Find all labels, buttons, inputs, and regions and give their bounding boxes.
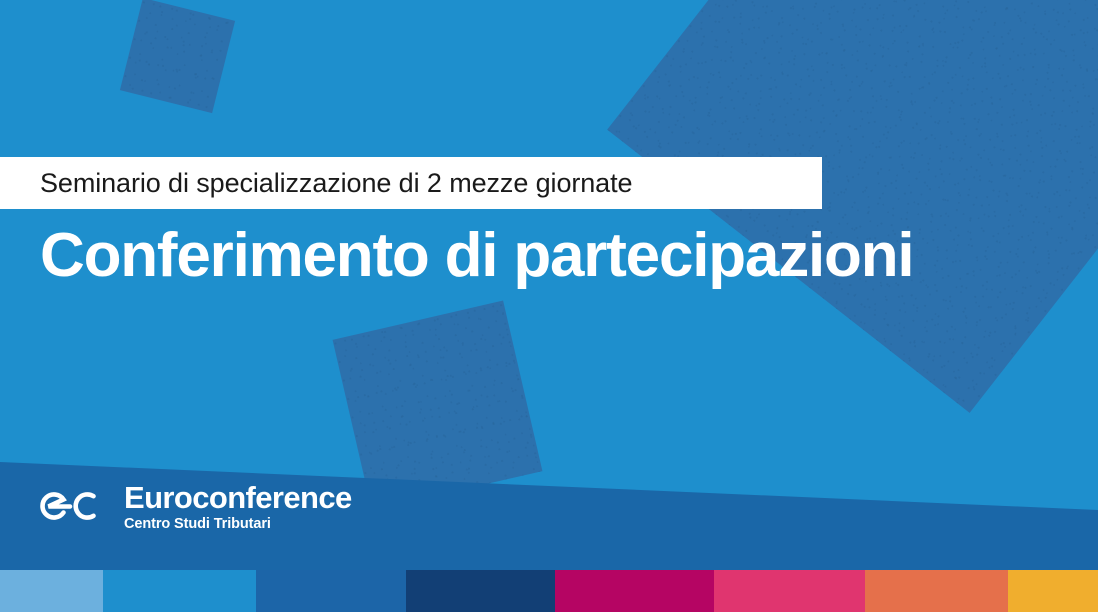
brand-color-strip bbox=[0, 570, 1098, 612]
color-swatch-gold bbox=[1008, 570, 1098, 612]
color-swatch-bright-blue bbox=[103, 570, 256, 612]
ec-monogram-icon bbox=[40, 484, 112, 533]
color-swatch-light-blue bbox=[0, 570, 103, 612]
color-swatch-orange bbox=[865, 570, 1008, 612]
euroconference-logo[interactable]: Euroconference Centro Studi Tributari bbox=[40, 482, 352, 533]
color-swatch-pink bbox=[714, 570, 865, 612]
logo-wordmark: Euroconference Centro Studi Tributari bbox=[124, 482, 352, 532]
color-swatch-steel-blue bbox=[256, 570, 406, 612]
kicker-label-box: Seminario di specializzazione di 2 mezze… bbox=[0, 157, 822, 209]
kicker-text: Seminario di specializzazione di 2 mezze… bbox=[40, 168, 632, 199]
logo-tagline: Centro Studi Tributari bbox=[124, 517, 352, 532]
page-title: Conferimento di partecipazioni bbox=[40, 222, 913, 290]
grain-texture bbox=[120, 0, 235, 113]
event-banner: Seminario di specializzazione di 2 mezze… bbox=[0, 0, 1098, 612]
color-swatch-magenta bbox=[555, 570, 714, 612]
logo-name: Euroconference bbox=[124, 482, 352, 513]
decorative-square-top-left bbox=[120, 0, 235, 113]
color-swatch-navy-blue bbox=[406, 570, 555, 612]
